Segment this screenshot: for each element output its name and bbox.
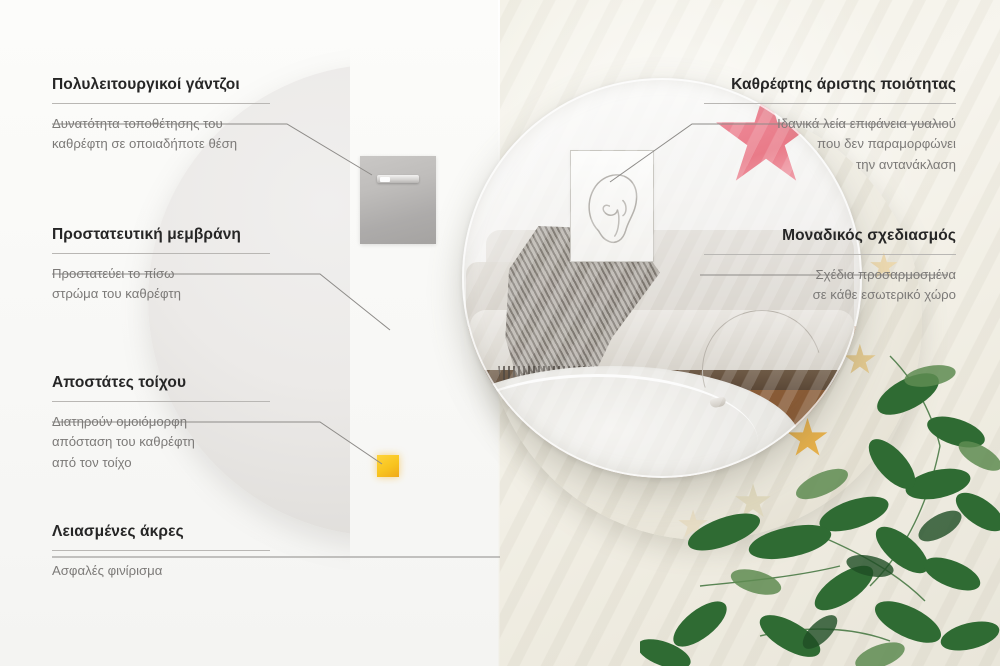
- callout-top-quality-mirror: Καθρέφτης άριστης ποιότητας Ιδανικά λεία…: [704, 76, 956, 175]
- callout-rule: [704, 254, 956, 255]
- callout-title: Λειασμένες άκρες: [52, 523, 270, 541]
- hook-detail-inset: [360, 156, 436, 244]
- yellow-spacer-chip: [377, 455, 399, 477]
- callout-protective-membrane: Προστατευτική μεμβράνη Προστατεύει το πί…: [52, 226, 270, 305]
- callout-description: Ιδανικά λεία επιφάνεια γυαλιού που δεν π…: [704, 114, 956, 175]
- callout-smoothed-edges: Λειασμένες άκρες Ασφαλές φινίρισμα: [52, 523, 270, 581]
- leaf-branch-icon: [640, 336, 1000, 666]
- callout-rule: [704, 103, 956, 104]
- reflected-framed-line-art: [570, 150, 654, 262]
- callout-description: Δυνατότητα τοποθέτησης του καθρέφτη σε ο…: [52, 114, 270, 155]
- callout-description: Σχέδια προσαρμοσμένα σε κάθε εσωτερικό χ…: [704, 265, 956, 306]
- callout-unique-design: Μοναδικός σχεδιασμός Σχέδια προσαρμοσμέν…: [704, 227, 956, 306]
- callout-wall-spacers: Αποστάτες τοίχου Διατηρούν ομοιόμορφη απ…: [52, 374, 270, 473]
- infographic-canvas: Πολυλειτουργικοί γάντζοι Δυνατότητα τοπο…: [0, 0, 1000, 666]
- callout-rule: [52, 550, 270, 551]
- callout-description: Ασφαλές φινίρισμα: [52, 561, 270, 581]
- hook-slot-icon: [380, 177, 390, 182]
- callout-title: Καθρέφτης άριστης ποιότητας: [704, 76, 956, 94]
- foliage-decoration: [640, 336, 1000, 666]
- callout-title: Πολυλειτουργικοί γάντζοι: [52, 76, 270, 94]
- callout-rule: [52, 103, 270, 104]
- callout-rule: [52, 401, 270, 402]
- callout-title: Μοναδικός σχεδιασμός: [704, 227, 956, 245]
- callout-rule: [52, 253, 270, 254]
- line-art-face-icon: [571, 151, 653, 261]
- callout-title: Αποστάτες τοίχου: [52, 374, 270, 392]
- callout-description: Προστατεύει το πίσω στρώμα του καθρέφτη: [52, 264, 270, 305]
- callout-multifunctional-hooks: Πολυλειτουργικοί γάντζοι Δυνατότητα τοπο…: [52, 76, 270, 155]
- callout-description: Διατηρούν ομοιόμορφη απόσταση του καθρέφ…: [52, 412, 270, 473]
- callout-title: Προστατευτική μεμβράνη: [52, 226, 270, 244]
